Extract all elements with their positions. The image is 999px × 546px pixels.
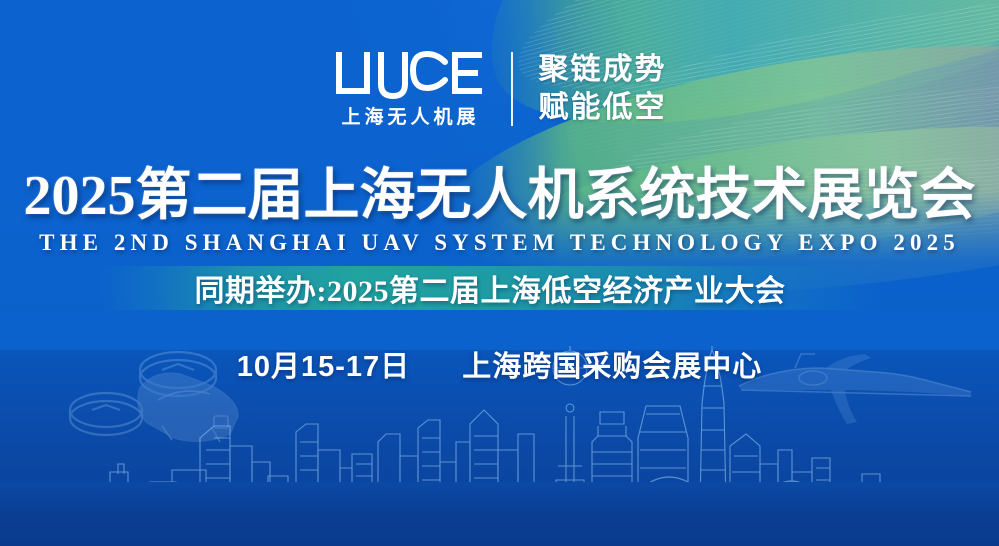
logo-chinese-name: 上海无人机展	[337, 108, 479, 127]
concurrent-event-banner: 同期举办:2025第二届上海低空经济产业大会	[100, 266, 880, 310]
event-meta: 10月15-17日 上海跨国采购会展中心	[0, 343, 999, 385]
event-logo: 上海无人机展	[333, 50, 485, 127]
event-date: 10月15-17日	[237, 351, 410, 383]
page-title: 2025第二届上海无人机系统技术展览会	[0, 168, 999, 225]
header-divider	[511, 52, 513, 126]
event-slogan: 聚链成势 赋能低空	[539, 53, 667, 124]
event-venue: 上海跨国采购会展中心	[462, 351, 762, 383]
ujce-wordmark-icon	[333, 50, 485, 102]
green-ribbon-3	[420, 2, 999, 309]
slogan-line-2: 赋能低空	[539, 91, 667, 125]
poster-header: 上海无人机展 聚链成势 赋能低空	[0, 50, 999, 127]
page-subtitle-en: THE 2ND SHANGHAI UAV SYSTEM TECHNOLOGY E…	[0, 230, 999, 256]
waterfront	[0, 482, 999, 546]
slogan-line-1: 聚链成势	[539, 53, 667, 87]
title-block: 2025第二届上海无人机系统技术展览会 THE 2ND SHANGHAI UAV…	[0, 168, 999, 256]
concurrent-event-text: 同期举办:2025第二届上海低空经济产业大会	[195, 266, 786, 310]
event-poster: 上海无人机展 聚链成势 赋能低空 2025第二届上海无人机系统技术展览会 THE…	[0, 0, 999, 546]
